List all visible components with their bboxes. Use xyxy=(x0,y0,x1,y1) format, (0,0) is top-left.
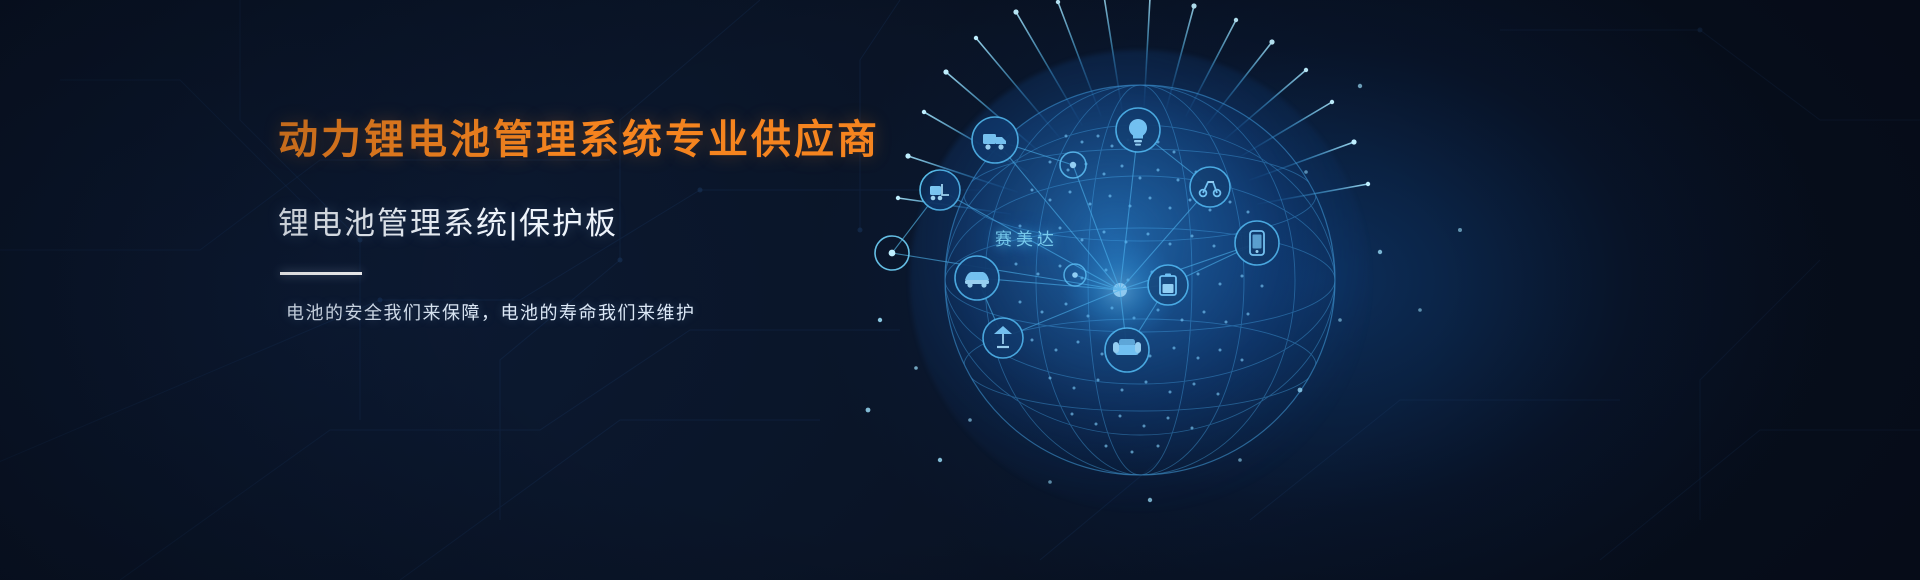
hero-copy: 动力锂电池管理系统专业供应商 锂电池管理系统|保护板 电池的安全我们来保障，电池… xyxy=(278,118,1038,325)
hero-divider xyxy=(280,272,362,275)
hero-tagline: 电池的安全我们来保障，电池的寿命我们来维护 xyxy=(286,303,1038,325)
hero-headline: 动力锂电池管理系统专业供应商 xyxy=(278,118,1038,162)
hero-subtitle: 锂电池管理系统|保护板 xyxy=(278,207,1038,241)
hero-banner: 赛美达 动力锂电池管理系统专业供应商 锂电池管理系统|保护板 电池的安全我们来保… xyxy=(0,0,1920,580)
